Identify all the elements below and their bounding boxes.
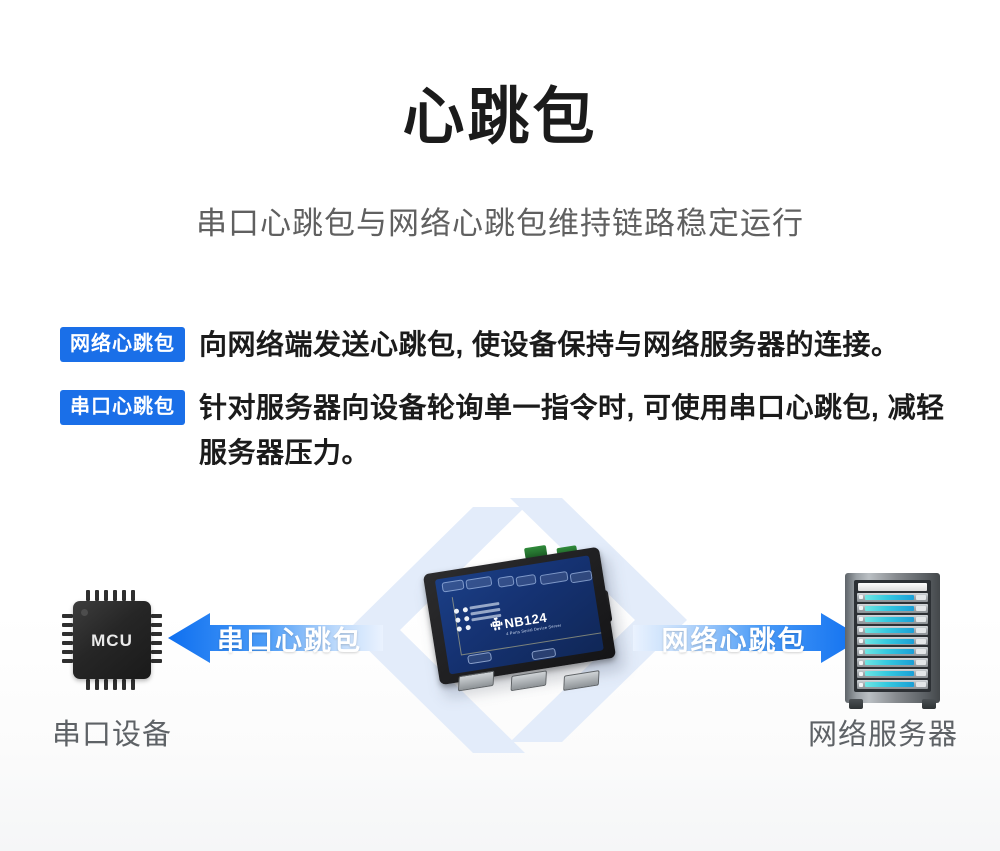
device-led bbox=[456, 626, 462, 632]
server-unit bbox=[857, 615, 928, 624]
server-unit bbox=[857, 680, 928, 689]
server-unit bbox=[857, 604, 928, 613]
server-blank-panel bbox=[858, 583, 927, 591]
caption-serial-device: 串口设备 bbox=[52, 717, 172, 753]
server-rack-foot bbox=[849, 699, 863, 709]
server-rack-foot bbox=[922, 699, 936, 709]
device-port-tag-power bbox=[465, 576, 492, 590]
bullet-text-serial-heartbeat: 针对服务器向设备轮询单一指令时, 可使用串口心跳包, 减轻服务器压力。 bbox=[199, 385, 960, 475]
mcu-pin1-marker-icon bbox=[81, 609, 88, 616]
page-subtitle: 串口心跳包与网络心跳包维持链路稳定运行 bbox=[0, 203, 1000, 245]
device-led bbox=[455, 617, 461, 623]
arrow-network-heartbeat: 网络心跳包 bbox=[633, 613, 863, 663]
heartbeat-topology-diagram: MCU 串口设备 串口心跳包 bbox=[0, 485, 1000, 795]
bullet-text-network-heartbeat: 向网络端发送心跳包, 使设备保持与网络服务器的连接。 bbox=[199, 322, 960, 367]
device-led bbox=[464, 616, 470, 622]
device-led bbox=[465, 625, 471, 631]
mcu-chip-body: MCU bbox=[73, 601, 151, 679]
bullet-row-serial-heartbeat: 串口心跳包 针对服务器向设备轮询单一指令时, 可使用串口心跳包, 减轻服务器压力… bbox=[60, 385, 960, 475]
server-rack-units bbox=[854, 580, 931, 692]
bullet-row-network-heartbeat: 网络心跳包 向网络端发送心跳包, 使设备保持与网络服务器的连接。 bbox=[60, 322, 960, 367]
server-unit bbox=[857, 626, 928, 635]
badge-network-heartbeat: 网络心跳包 bbox=[60, 327, 185, 362]
server-unit bbox=[857, 647, 928, 656]
server-unit bbox=[857, 658, 928, 667]
arrow-label-serial-heartbeat: 串口心跳包 bbox=[168, 613, 383, 663]
device-port-tag-reset bbox=[441, 579, 464, 592]
caption-network-server: 网络服务器 bbox=[808, 717, 958, 753]
badge-serial-heartbeat: 串口心跳包 bbox=[60, 390, 185, 425]
mcu-chip-label: MCU bbox=[73, 631, 151, 651]
network-server-rack bbox=[845, 573, 940, 703]
page-title: 心跳包 bbox=[0, 82, 1000, 154]
server-unit bbox=[857, 593, 928, 602]
device-port-tag-usb bbox=[497, 575, 514, 587]
device-led bbox=[463, 607, 469, 613]
product-feature-page: 心跳包 串口心跳包与网络心跳包维持链路稳定运行 网络心跳包 向网络端发送心跳包,… bbox=[0, 0, 1000, 851]
server-unit bbox=[857, 637, 928, 646]
arrow-serial-heartbeat: 串口心跳包 bbox=[168, 613, 383, 663]
device-led bbox=[454, 608, 460, 614]
device-brand-logo-icon bbox=[490, 617, 504, 632]
serial-device-server-product-photo: NB124 4 Ports Serial Device Server bbox=[417, 531, 636, 720]
mcu-chip: MCU bbox=[62, 590, 162, 690]
arrow-label-network-heartbeat: 网络心跳包 bbox=[633, 613, 863, 663]
feature-bullet-list: 网络心跳包 向网络端发送心跳包, 使设备保持与网络服务器的连接。 串口心跳包 针… bbox=[60, 322, 960, 493]
server-unit bbox=[857, 669, 928, 678]
